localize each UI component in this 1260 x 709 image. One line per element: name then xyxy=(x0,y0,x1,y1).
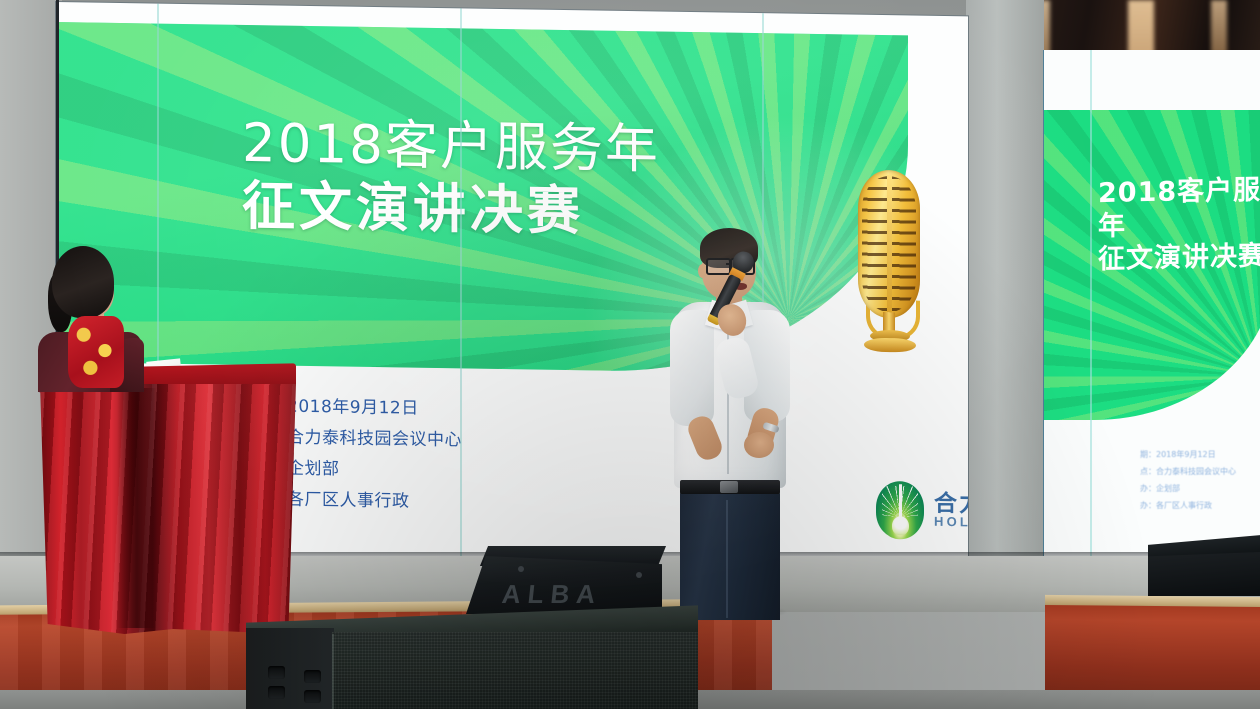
man-trousers xyxy=(680,490,780,620)
subwoofer-handle-3 xyxy=(304,670,321,683)
woman-hair xyxy=(52,246,114,318)
microphone-head xyxy=(858,170,920,319)
microphone-divider xyxy=(887,175,892,313)
slide-title-line1: 2018客户服务年 xyxy=(242,113,660,181)
podium-drape-fabric xyxy=(40,384,296,634)
woman-at-podium xyxy=(38,246,142,386)
secondary-slide-info-block: 期：2018年9月12日 点：合力泰科技园会议中心 办：企划部 办：各厂区人事行… xyxy=(1140,446,1236,514)
secondary-info-line-3: 办：企划部 xyxy=(1140,480,1236,497)
screen-panel-seam-2 xyxy=(460,8,462,564)
subwoofer-handle-2 xyxy=(268,686,285,699)
secondary-slide-title-line1: 2018客户服务年 xyxy=(1098,174,1260,242)
man-glasses-bridge xyxy=(726,263,732,265)
stage-monitor-wedge-right xyxy=(1148,540,1260,598)
subwoofer-cabinet-foreground xyxy=(246,614,698,709)
man-with-microphone xyxy=(664,228,792,620)
microphone-illustration xyxy=(836,169,946,366)
microphone-base xyxy=(864,338,916,353)
secondary-info-line-2: 点：合力泰科技园会议中心 xyxy=(1140,463,1236,480)
slide-title-line2: 征文演讲决赛 xyxy=(242,175,712,245)
subwoofer-panel-seam xyxy=(332,634,334,709)
podium-red-drape xyxy=(22,366,272,636)
secondary-info-line-4: 办：各厂区人事行政 xyxy=(1140,497,1236,514)
wedge-right-front-grille xyxy=(1148,552,1260,596)
subwoofer-handle-4 xyxy=(304,690,321,703)
man-hand-right xyxy=(744,432,774,458)
holitech-emblem-core xyxy=(892,516,909,535)
wedge-screw-right xyxy=(636,572,642,578)
secondary-slide-title-line2: 征文演讲决赛 xyxy=(1098,240,1260,275)
woman-patterned-scarf xyxy=(68,316,124,388)
subwoofer-front-grille xyxy=(332,632,698,709)
wedge-screw-left xyxy=(518,566,524,572)
slide-title: 2018客户服务年 征文演讲决赛 xyxy=(242,113,712,245)
stage-presentation-photo: 2018客户服务年 征文演讲决赛 间：2018年9月12日 址：合力泰科技园会议… xyxy=(0,0,1260,709)
secondary-screen-seam xyxy=(1090,50,1092,562)
holitech-logo-en: HOLITECH xyxy=(934,514,968,530)
secondary-info-line-1: 期：2018年9月12日 xyxy=(1140,446,1236,463)
man-glasses-left-lens xyxy=(706,258,731,275)
holitech-logo: 合力泰 HOLITECH xyxy=(876,481,968,541)
subwoofer-handle-1 xyxy=(268,666,285,679)
man-belt-buckle xyxy=(720,481,738,493)
holitech-emblem-icon xyxy=(876,481,924,540)
man-trouser-crease xyxy=(726,500,728,618)
secondary-slide-title: 2018客户服务年 征文演讲决赛 xyxy=(1098,174,1260,277)
secondary-projection-screen: 2018客户服务年 征文演讲决赛 期：2018年9月12日 点：合力泰科技园会议… xyxy=(1044,50,1260,562)
man-sleeve-left xyxy=(670,310,714,426)
ceiling-light-glow-3 xyxy=(1211,0,1227,54)
wedge-brand-text: ALBA xyxy=(500,579,603,610)
podium-drape-fold xyxy=(117,388,157,628)
wall-center-column xyxy=(966,0,1044,600)
